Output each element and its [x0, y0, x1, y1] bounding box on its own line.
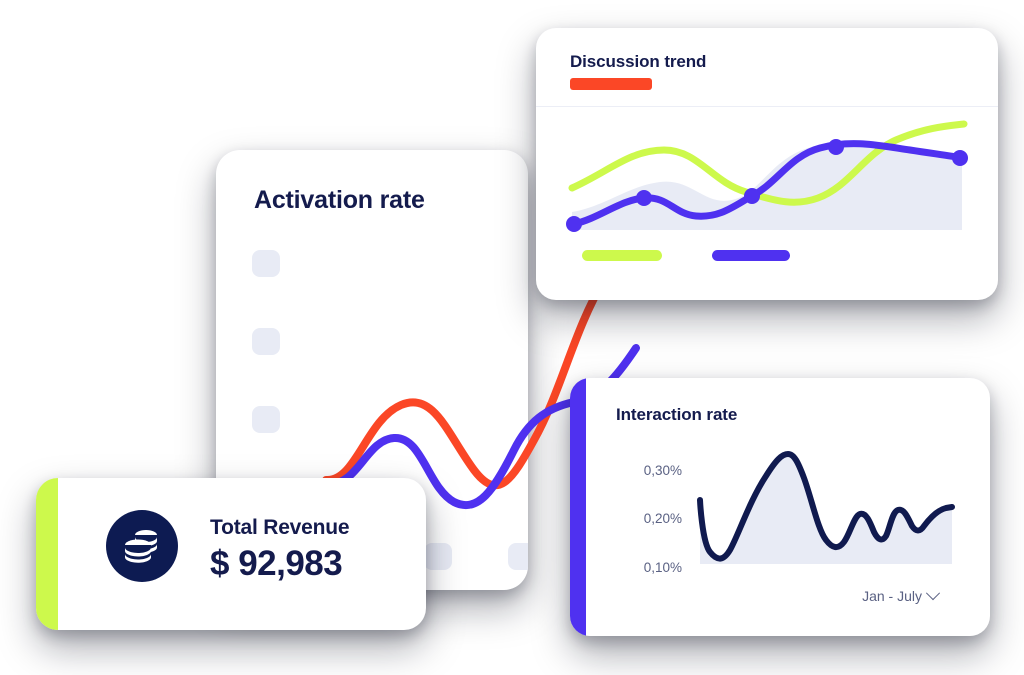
total-revenue-label: Total Revenue: [210, 516, 349, 540]
chevron-down-icon: [926, 586, 940, 600]
interaction-rate-chart: [694, 438, 956, 578]
data-point-marker: [744, 188, 760, 204]
coins-stack-icon: [106, 510, 178, 582]
placeholder-block: [424, 543, 452, 570]
data-point-marker: [952, 150, 968, 166]
card-divider: [536, 106, 998, 107]
date-range-label: Jan - July: [862, 588, 922, 604]
dashboard-cards-composition: Activation rate Discussion trend: [0, 0, 1024, 675]
y-axis-tick-label: 0,30%: [618, 463, 682, 478]
data-point-marker: [636, 190, 652, 206]
date-range-dropdown[interactable]: Jan - July: [862, 588, 938, 604]
interaction-accent-bar: [570, 378, 586, 636]
data-point-marker: [566, 216, 582, 232]
interaction-area-fill: [700, 454, 952, 564]
discussion-accent-bar: [570, 78, 652, 90]
discussion-trend-chart: [564, 120, 970, 242]
placeholder-block: [252, 406, 280, 433]
interaction-rate-card: Interaction rate 0,30% 0,20% 0,10% Jan -…: [570, 378, 990, 636]
y-axis-tick-label: 0,20%: [618, 511, 682, 526]
discussion-trend-card: Discussion trend: [536, 28, 998, 300]
coins-stack-glyph: [122, 527, 162, 565]
total-revenue-card: Total Revenue $ 92,983: [36, 478, 426, 630]
interaction-rate-title: Interaction rate: [616, 405, 737, 425]
placeholder-block: [508, 543, 528, 570]
discussion-trend-title: Discussion trend: [570, 52, 706, 72]
y-axis-tick-label: 0,10%: [618, 560, 682, 575]
legend-item-blue[interactable]: [712, 250, 790, 261]
total-revenue-value: $ 92,983: [210, 544, 342, 584]
data-point-marker: [828, 139, 844, 155]
revenue-accent-bar: [36, 478, 58, 630]
placeholder-block: [252, 328, 280, 355]
activation-rate-title: Activation rate: [254, 186, 425, 215]
legend-item-green[interactable]: [582, 250, 662, 261]
placeholder-block: [252, 250, 280, 277]
